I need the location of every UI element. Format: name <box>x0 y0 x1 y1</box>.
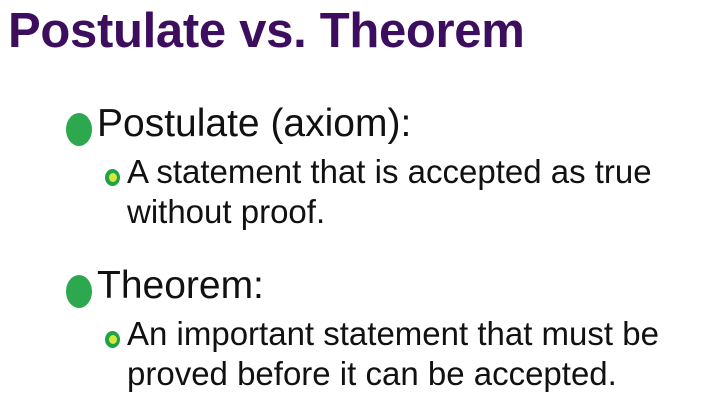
slide-title: Postulate vs. Theorem <box>8 2 708 60</box>
bullet-item-theorem: Theorem: <box>0 262 727 309</box>
bullet-item-theorem-label: Theorem: <box>97 262 727 309</box>
sub-bullet-line: without proof. <box>127 192 727 232</box>
sub-bullet-text-block: A statement that is accepted as true wit… <box>127 152 727 232</box>
sub-bullet-item-theorem-definition: An important statement that must be prov… <box>0 314 727 394</box>
bullet-group-postulate: Postulate (axiom): A statement that is a… <box>0 100 727 232</box>
bullet-item-postulate: Postulate (axiom): <box>0 100 727 147</box>
bullet-group-theorem: Theorem: An important statement that mus… <box>0 262 727 394</box>
slide-body-bullet-list: Postulate (axiom): A statement that is a… <box>0 100 727 394</box>
ring-circle-bullet-icon <box>105 331 120 348</box>
filled-circle-bullet-icon <box>66 275 92 308</box>
ring-circle-bullet-icon <box>105 169 120 186</box>
sub-bullet-item-postulate-definition: A statement that is accepted as true wit… <box>0 152 727 232</box>
sub-bullet-line: proved before it can be accepted. <box>127 354 727 394</box>
presentation-slide: Postulate vs. Theorem Postulate (axiom):… <box>0 0 727 403</box>
filled-circle-bullet-icon <box>66 113 92 146</box>
bullet-item-postulate-label: Postulate (axiom): <box>97 100 727 147</box>
sub-bullet-line: A statement that is accepted as true <box>127 152 727 192</box>
sub-bullet-text-block: An important statement that must be prov… <box>127 314 727 394</box>
sub-bullet-line: An important statement that must be <box>127 314 727 354</box>
